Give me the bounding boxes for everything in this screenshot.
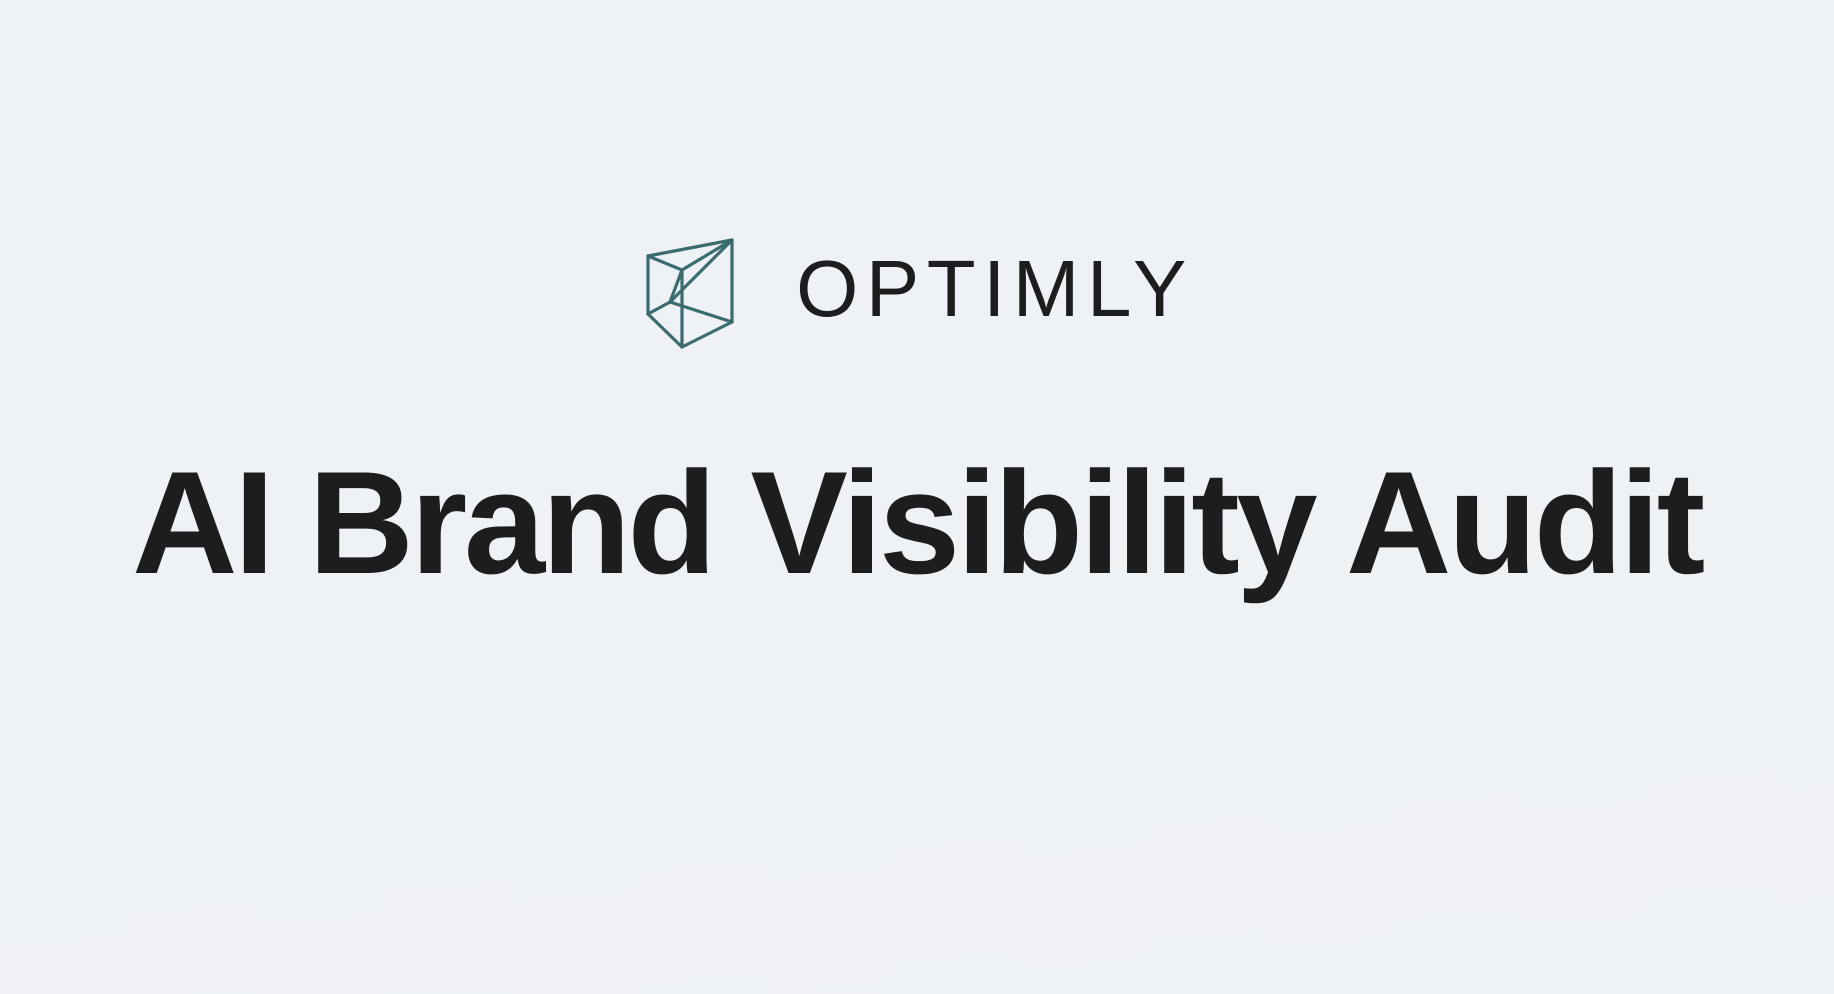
wordmark-optimly: OPTIMLY (796, 249, 1194, 329)
triangular-prism-wireframe-logo-icon (640, 234, 758, 352)
cover-page: OPTIMLY AI Brand Visibility Audit (0, 0, 1834, 994)
brand-lockup: OPTIMLY (0, 236, 1834, 346)
page-title: AI Brand Visibility Audit (0, 450, 1834, 596)
